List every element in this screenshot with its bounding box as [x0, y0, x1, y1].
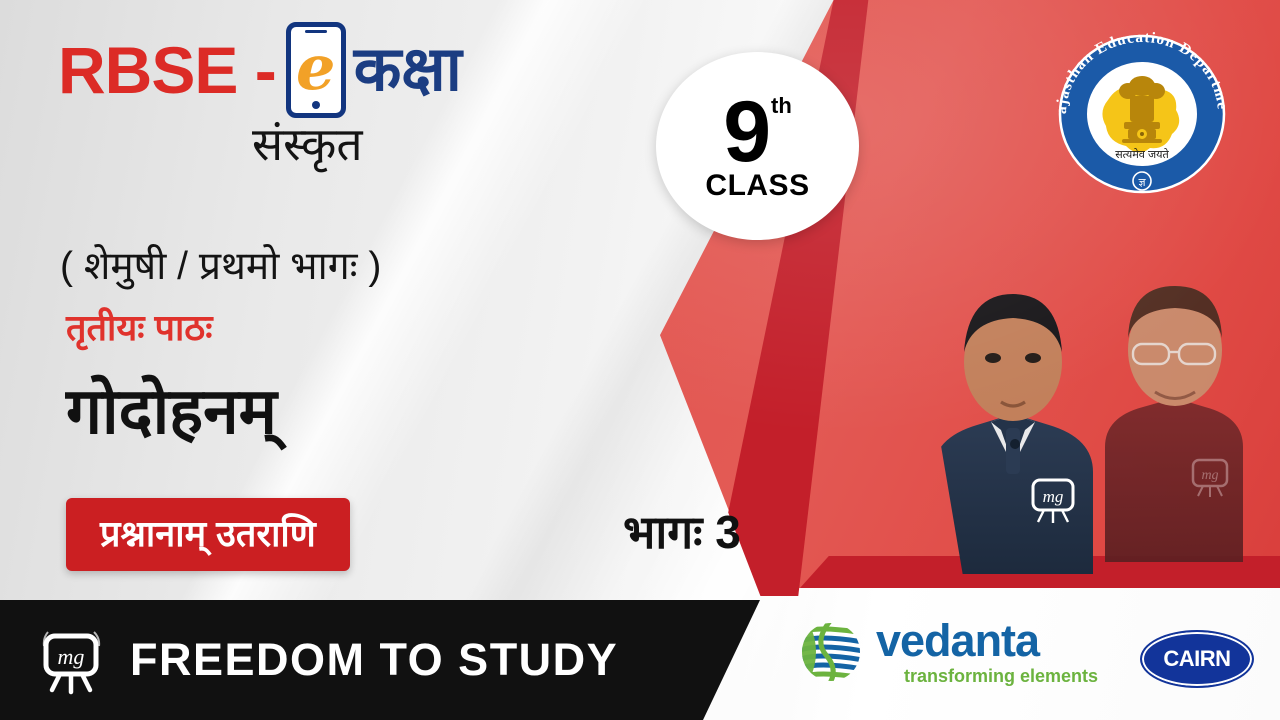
e-letter: e — [296, 43, 335, 93]
svg-text:mg: mg — [58, 644, 85, 669]
footer-tagline: FREEDOM TO STUDY — [130, 634, 618, 686]
subject-label: संस्कृत — [252, 112, 363, 174]
svg-text:ज्ञ: ज्ञ — [1138, 177, 1146, 189]
answers-badge: प्रश्नानाम् उतराणि — [66, 498, 350, 571]
class-number-wrap: 9 th — [723, 89, 792, 175]
brand-rbse-text: RBSE - — [58, 37, 276, 103]
presenters-photo: mg — [905, 232, 1280, 588]
smartphone-icon: e — [286, 22, 346, 118]
class-number: 9 — [723, 89, 769, 175]
part-label: भागः 3 — [623, 500, 741, 562]
cairn-name: CAIRN — [1163, 646, 1230, 672]
vedanta-wordmark: vedanta transforming elements — [876, 618, 1098, 685]
sponsor-vedanta: vedanta transforming elements — [800, 618, 1098, 685]
rajasthan-education-department-seal: सत्यमेव जयते Rajasthan Education Departm… — [1042, 18, 1242, 198]
sponsor-cairn: CAIRN — [1140, 630, 1254, 688]
seal-motto: सत्यमेव जयते — [1115, 148, 1169, 161]
svg-text:mg: mg — [1201, 468, 1218, 483]
class-badge: 9 th CLASS — [656, 52, 859, 240]
vedanta-tagline: transforming elements — [904, 667, 1098, 685]
footer-content: mg FREEDOM TO STUDY — [0, 600, 618, 720]
presenter-back: mg — [1105, 286, 1243, 562]
presenter-front: mg — [933, 294, 1093, 574]
class-word: CLASS — [705, 169, 809, 203]
presenters-illustration: mg — [905, 232, 1280, 588]
lesson-number: तृतीयः पाठः — [66, 302, 212, 351]
svg-text:mg: mg — [1043, 487, 1064, 506]
lesson-title: गोदोहनम् — [66, 365, 277, 452]
class-ordinal-suffix: th — [771, 95, 792, 117]
brand-header: RBSE - e कक्षा — [58, 22, 462, 118]
thumbnail-canvas: mg — [0, 0, 1280, 720]
vedanta-name: vedanta — [876, 618, 1098, 663]
book-title: ( शेमुषी / प्रथमो भागः ) — [60, 238, 381, 291]
mg-blackboard-icon: mg — [36, 624, 108, 696]
brand-kaksha-text: कक्षा — [354, 39, 462, 101]
vedanta-globe-icon — [800, 621, 862, 683]
